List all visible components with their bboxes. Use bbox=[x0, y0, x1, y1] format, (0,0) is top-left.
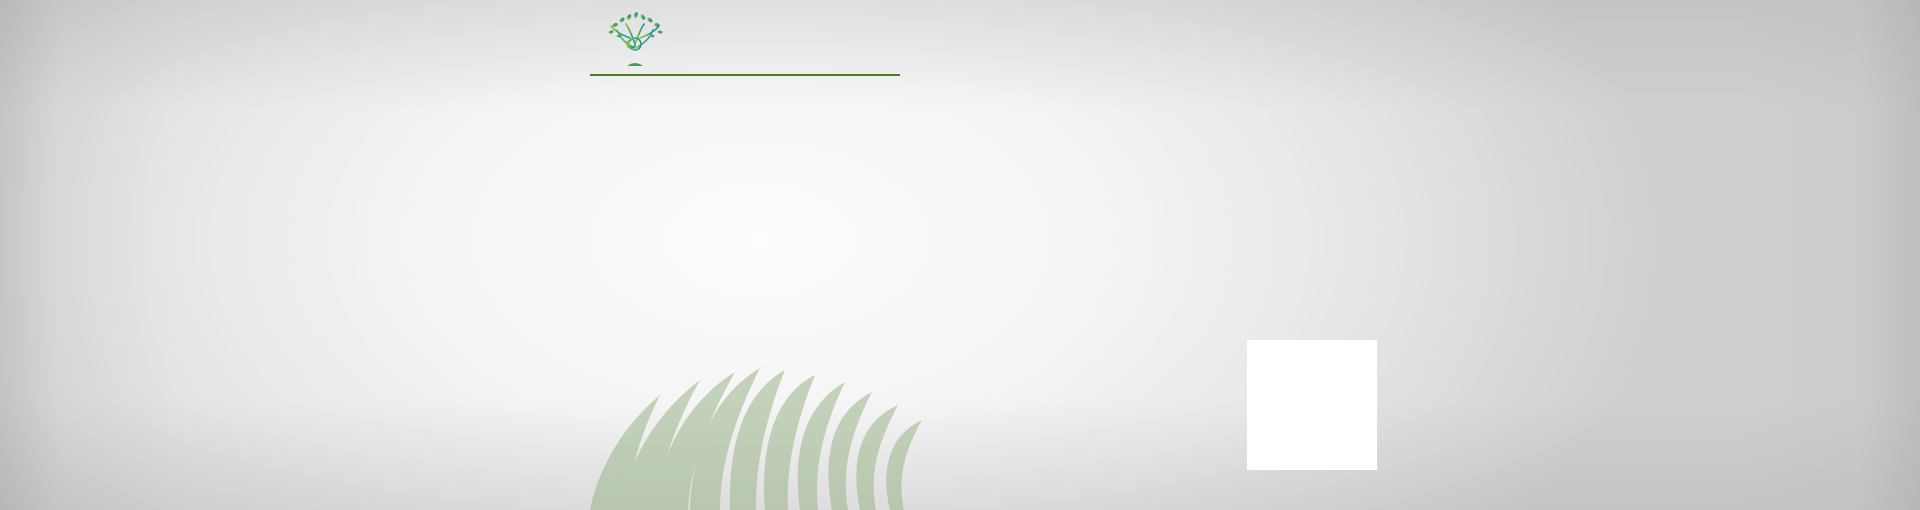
grass-silhouette-icon bbox=[560, 350, 960, 510]
brand-logo[interactable] bbox=[600, 6, 900, 80]
tree-logo-icon bbox=[600, 8, 670, 70]
qr-code-image bbox=[1251, 344, 1373, 466]
qr-code bbox=[1247, 340, 1377, 470]
logo-divider bbox=[590, 74, 900, 76]
background-vignette bbox=[0, 0, 1920, 510]
